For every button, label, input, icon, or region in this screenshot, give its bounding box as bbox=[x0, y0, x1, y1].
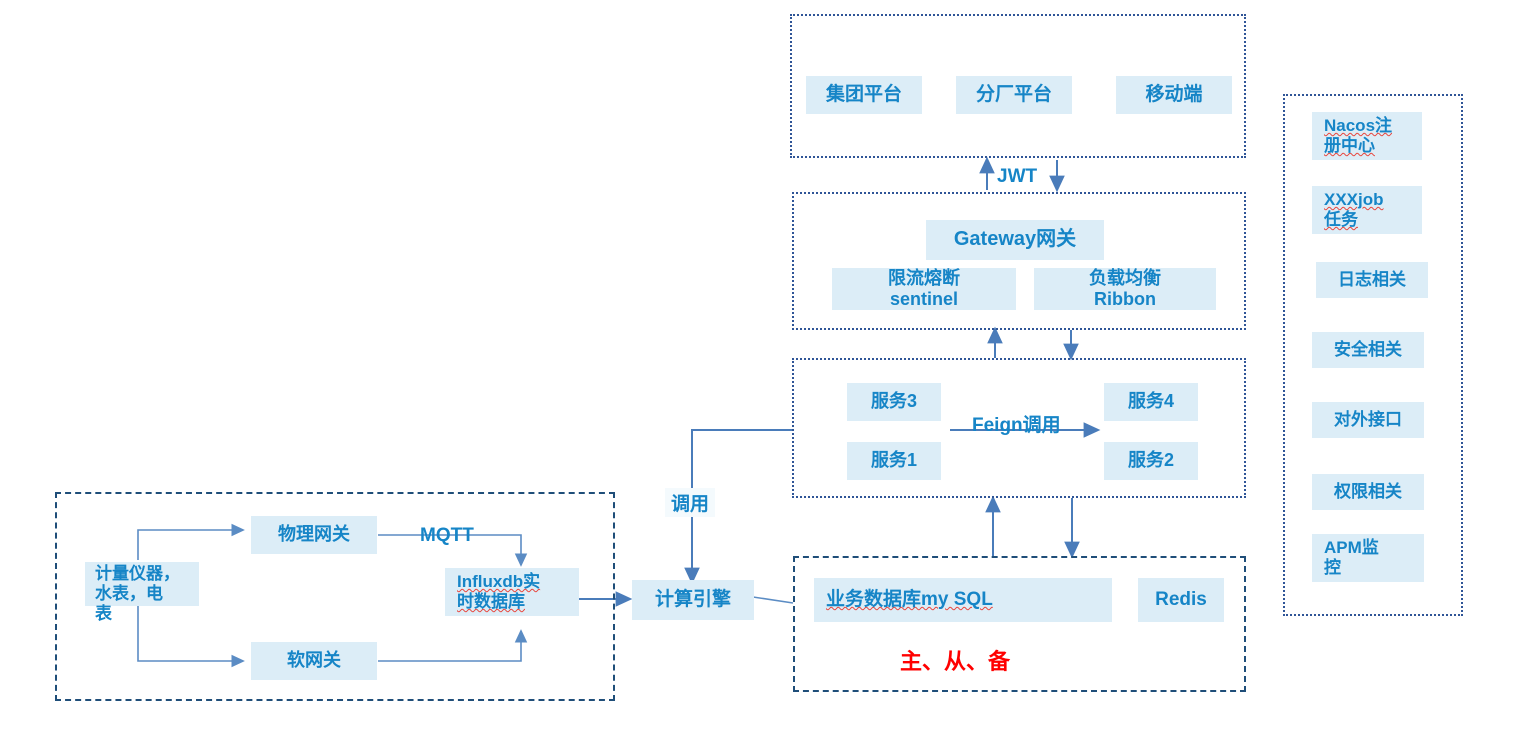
support-item-apm[interactable]: APM监 控 bbox=[1312, 534, 1424, 582]
support-item-external-api[interactable]: 对外接口 bbox=[1312, 402, 1424, 438]
compute-engine-box[interactable]: 计算引擎 bbox=[632, 580, 754, 620]
edge-label-feign: Feign调用 bbox=[972, 410, 1061, 437]
service-box-4[interactable]: 服务4 bbox=[1104, 383, 1198, 421]
support-item-nacos[interactable]: Nacos注 册中心 bbox=[1312, 112, 1422, 160]
gateway-sentinel-box[interactable]: 限流熔断 sentinel bbox=[832, 268, 1016, 310]
support-item-nacos-label: Nacos注 册中心 bbox=[1324, 116, 1392, 156]
platform-item-mobile[interactable]: 移动端 bbox=[1116, 76, 1232, 114]
iot-physical-gateway-box[interactable]: 物理网关 bbox=[251, 516, 377, 554]
support-item-logging[interactable]: 日志相关 bbox=[1316, 262, 1428, 298]
service-box-3[interactable]: 服务3 bbox=[847, 383, 941, 421]
support-item-security[interactable]: 安全相关 bbox=[1312, 332, 1424, 368]
platform-item-group[interactable]: 集团平台 bbox=[806, 76, 922, 114]
iot-influxdb-box[interactable]: Influxdb实 时数据库 bbox=[445, 568, 579, 616]
support-item-xxxjob-label: XXXjob 任务 bbox=[1324, 190, 1384, 230]
service-box-2[interactable]: 服务2 bbox=[1104, 442, 1198, 480]
database-replication-label: 主、从、备 bbox=[900, 644, 1010, 676]
support-item-permissions[interactable]: 权限相关 bbox=[1312, 474, 1424, 510]
iot-meters-box[interactable]: 计量仪器， 水表，电 表 bbox=[85, 562, 199, 606]
database-mysql-box[interactable]: 业务数据库my SQL bbox=[814, 578, 1112, 622]
gateway-ribbon-box[interactable]: 负载均衡 Ribbon bbox=[1034, 268, 1216, 310]
database-redis-box[interactable]: Redis bbox=[1138, 578, 1224, 622]
database-mysql-label: 业务数据库my SQL bbox=[826, 589, 993, 611]
support-item-xxxjob[interactable]: XXXjob 任务 bbox=[1312, 186, 1422, 234]
edge-label-invoke: 调用 bbox=[665, 488, 715, 517]
edge-label-jwt: JWT bbox=[997, 166, 1037, 188]
database-group bbox=[793, 556, 1246, 692]
service-box-1[interactable]: 服务1 bbox=[847, 442, 941, 480]
line-engine-to-database bbox=[753, 597, 793, 603]
iot-soft-gateway-box[interactable]: 软网关 bbox=[251, 642, 377, 680]
iot-influxdb-label: Influxdb实 时数据库 bbox=[457, 572, 540, 612]
architecture-diagram: 集团平台 分厂平台 移动端 JWT Gateway网关 限流熔断 sentine… bbox=[0, 0, 1520, 752]
edge-label-mqtt: MQTT bbox=[420, 525, 474, 547]
platform-item-branch[interactable]: 分厂平台 bbox=[956, 76, 1072, 114]
gateway-main-box[interactable]: Gateway网关 bbox=[926, 220, 1104, 260]
